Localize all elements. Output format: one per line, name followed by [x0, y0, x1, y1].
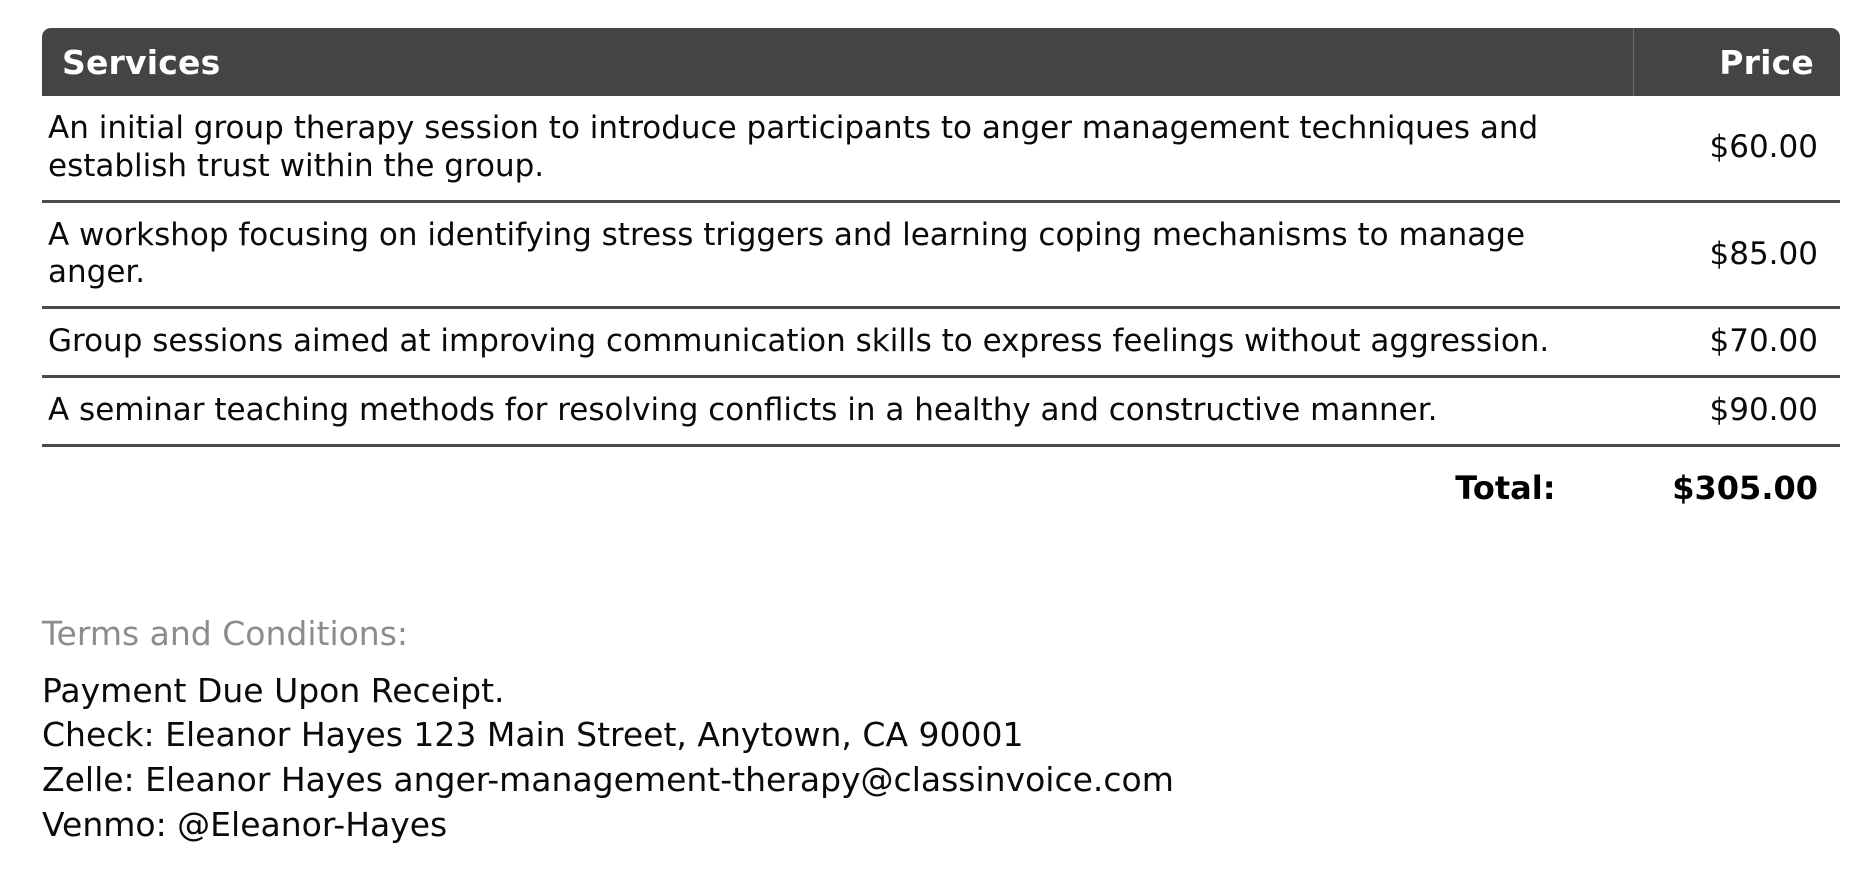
- table-row: A workshop focusing on identifying stres…: [42, 201, 1840, 308]
- terms-line-check: Check: Eleanor Hayes 123 Main Street, An…: [42, 713, 1802, 758]
- table-header-row: Services Price: [42, 28, 1840, 96]
- table-row: An initial group therapy session to intr…: [42, 96, 1840, 201]
- service-description: A seminar teaching methods for resolving…: [42, 377, 1634, 446]
- services-price-table: Services Price An initial group therapy …: [42, 28, 1840, 517]
- service-price: $70.00: [1634, 308, 1841, 377]
- total-value: $305.00: [1634, 445, 1841, 517]
- service-price: $85.00: [1634, 201, 1841, 308]
- total-label: Total:: [42, 445, 1634, 517]
- invoice-sheet: Services Price An initial group therapy …: [0, 0, 1868, 870]
- terms-line-venmo: Venmo: @Eleanor-Hayes: [42, 803, 1802, 848]
- service-description: An initial group therapy session to intr…: [42, 96, 1634, 201]
- table-body: An initial group therapy session to intr…: [42, 96, 1840, 517]
- table-row: Group sessions aimed at improving commun…: [42, 308, 1840, 377]
- service-description: A workshop focusing on identifying stres…: [42, 201, 1634, 308]
- table-header: Services Price: [42, 28, 1840, 96]
- service-description: Group sessions aimed at improving commun…: [42, 308, 1634, 377]
- terms-and-conditions-block: Terms and Conditions: Payment Due Upon R…: [42, 612, 1802, 848]
- table-total-row: Total: $305.00: [42, 445, 1840, 517]
- column-header-services: Services: [42, 28, 1634, 96]
- terms-heading: Terms and Conditions:: [42, 612, 1802, 657]
- service-price: $90.00: [1634, 377, 1841, 446]
- column-header-price: Price: [1634, 28, 1841, 96]
- terms-line-payment-due: Payment Due Upon Receipt.: [42, 669, 1802, 714]
- service-price: $60.00: [1634, 96, 1841, 201]
- table-row: A seminar teaching methods for resolving…: [42, 377, 1840, 446]
- terms-line-zelle: Zelle: Eleanor Hayes anger-management-th…: [42, 758, 1802, 803]
